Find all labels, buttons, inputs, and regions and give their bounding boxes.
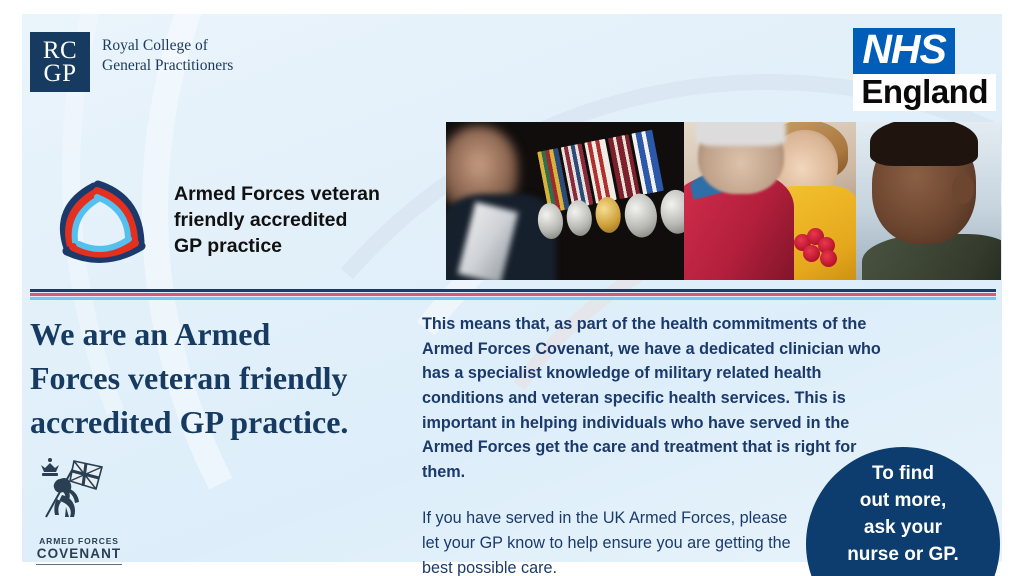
rcgp-wordmark: Royal College of General Practitioners xyxy=(102,36,233,77)
covenant-line-2: COVENANT xyxy=(24,546,134,561)
photo-couple-poppies xyxy=(684,122,856,280)
photo-young-veteran xyxy=(856,122,1001,280)
find-out-more-text: To find out more, ask your nurse or GP. xyxy=(847,461,959,569)
body-paragraph-regular: If you have served in the UK Armed Force… xyxy=(422,506,794,576)
covenant-line-1: ARMED FORCES xyxy=(24,536,134,546)
rcgp-monogram-icon: RC GP xyxy=(30,32,90,92)
nhs-wordmark: NHS xyxy=(853,28,955,74)
armed-forces-veteran-friendly-ribbon-icon xyxy=(48,168,152,272)
body-paragraph-bold: This means that, as part of the health c… xyxy=(422,312,892,484)
accreditation-label: Armed Forces veteran friendly accredited… xyxy=(174,181,380,260)
nhs-england-sublabel: England xyxy=(853,74,996,112)
rcgp-logo: RC GP Royal College of General Practitio… xyxy=(30,32,233,92)
lion-with-union-flag-and-crown-icon xyxy=(24,455,134,529)
covenant-wordmark: ARMED FORCES COVENANT xyxy=(24,536,134,565)
nhs-england-logo: NHS England xyxy=(853,28,996,111)
photo-strip xyxy=(446,122,1001,280)
armed-forces-veteran-friendly-poster: RC GP Royal College of General Practitio… xyxy=(0,0,1024,576)
rcgp-monogram-line-1: RC xyxy=(43,39,77,63)
poster-headline: We are an Armed Forces veteran friendly … xyxy=(30,312,405,444)
covenant-underline xyxy=(36,564,122,565)
armed-forces-covenant-logo: ARMED FORCES COVENANT xyxy=(24,455,134,565)
rcgp-monogram-line-2: GP xyxy=(44,62,77,86)
accreditation-block: Armed Forces veteran friendly accredited… xyxy=(48,168,380,272)
photo-veteran-medals xyxy=(446,122,684,280)
tricolour-divider xyxy=(30,289,996,300)
